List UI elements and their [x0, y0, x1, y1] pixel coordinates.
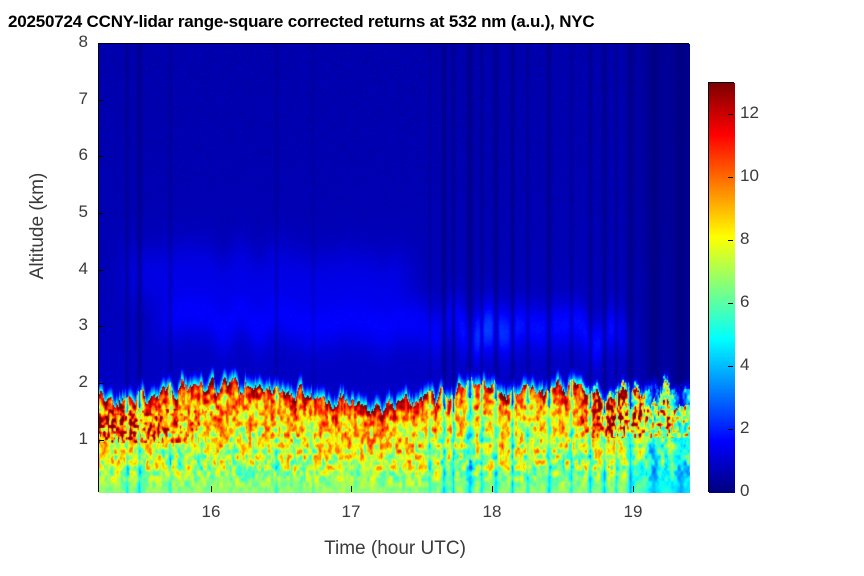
x-tick: [211, 486, 212, 492]
colorbar-tick-label: 6: [740, 292, 780, 312]
y-tick-label: 7: [48, 89, 88, 109]
colorbar-tick: [728, 429, 733, 430]
colorbar-tick: [728, 240, 733, 241]
y-tick: [98, 43, 104, 44]
colorbar-tick-label: 4: [740, 355, 780, 375]
y-tick-label: 6: [48, 145, 88, 165]
x-tick-label: 17: [321, 502, 381, 522]
x-tick: [351, 486, 352, 492]
y-tick: [98, 440, 104, 441]
y-tick-label: 4: [48, 259, 88, 279]
page-title: 20250724 CCNY-lidar range-square correct…: [8, 12, 595, 32]
colorbar-tick-label: 0: [740, 481, 780, 501]
x-tick-label: 19: [603, 502, 663, 522]
y-tick-label: 1: [48, 429, 88, 449]
x-tick-label: 18: [462, 502, 522, 522]
y-tick-label: 3: [48, 315, 88, 335]
colorbar-tick-label: 12: [740, 103, 780, 123]
colorbar-tick-label: 2: [740, 418, 780, 438]
lidar-heatmap-canvas[interactable]: [99, 44, 690, 493]
y-tick: [98, 270, 104, 271]
colorbar[interactable]: [708, 82, 734, 492]
colorbar-tick: [728, 303, 733, 304]
colorbar-tick-label: 10: [740, 166, 780, 186]
colorbar-tick: [728, 366, 733, 367]
y-axis-label: Altitude (km): [27, 126, 49, 326]
x-tick: [633, 486, 634, 492]
x-tick-label: 16: [181, 502, 241, 522]
y-tick: [98, 383, 104, 384]
x-tick: [492, 486, 493, 492]
heatmap-axes[interactable]: [98, 43, 689, 492]
y-tick: [98, 156, 104, 157]
lidar-figure: 20250724 CCNY-lidar range-square correct…: [0, 0, 864, 576]
y-tick: [98, 213, 104, 214]
colorbar-tick-label: 8: [740, 229, 780, 249]
y-tick-label: 8: [48, 32, 88, 52]
y-tick: [98, 326, 104, 327]
y-tick-label: 2: [48, 372, 88, 392]
x-axis-label: Time (hour UTC): [0, 538, 790, 560]
colorbar-canvas: [709, 83, 735, 493]
colorbar-tick: [728, 114, 733, 115]
colorbar-tick: [728, 177, 733, 178]
y-tick-label: 5: [48, 202, 88, 222]
y-tick: [98, 100, 104, 101]
